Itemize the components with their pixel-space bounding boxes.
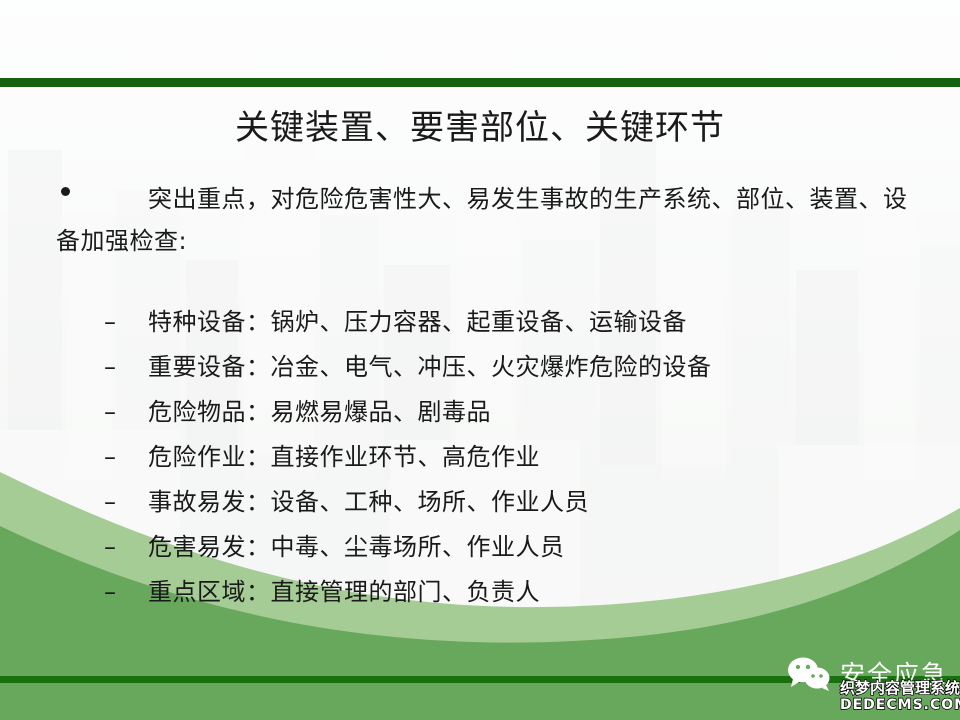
top-divider-bar [0,78,960,87]
dash-marker-icon: – [104,570,148,615]
site-watermark: 织梦内容管理系统 DEDECMS.COM [840,681,960,712]
list-item-label: 重点区域：直接管理的部门、负责人 [104,570,924,615]
list-item-label: 事故易发：设备、工种、场所、作业人员 [104,480,924,525]
list-item-label: 危险物品：易燃易爆品、剧毒品 [104,390,924,435]
list-item: – 重点区域：直接管理的部门、负责人 [104,570,924,615]
page-title: 关键装置、要害部位、关键环节 [0,100,960,149]
dash-marker-icon: – [104,525,148,570]
list-item: – 重要设备：冶金、电气、冲压、火灾爆炸危险的设备 [104,345,924,390]
list-item-label: 重要设备：冶金、电气、冲压、火灾爆炸危险的设备 [104,345,924,390]
list-item: – 危险物品：易燃易爆品、剧毒品 [104,390,924,435]
dash-marker-icon: – [104,480,148,525]
dash-marker-icon: – [104,300,148,345]
list-item: – 事故易发：设备、工种、场所、作业人员 [104,480,924,525]
watermark-line-en: DEDECMS.COM [840,698,960,713]
list-item-label: 特种设备：锅炉、压力容器、起重设备、运输设备 [104,300,924,345]
dash-marker-icon: – [104,435,148,480]
list-item: – 特种设备：锅炉、压力容器、起重设备、运输设备 [104,300,924,345]
dash-marker-icon: – [104,345,148,390]
list-item-label: 危险作业：直接作业环节、高危作业 [104,435,924,480]
bullet-dot-icon [61,187,70,196]
slide-content: 关键装置、要害部位、关键环节 突出重点，对危险危害性大、易发生事故的生产系统、部… [0,0,960,720]
dash-marker-icon: – [104,390,148,435]
watermark-line-cn: 织梦内容管理系统 [840,681,960,697]
intro-paragraph-block: 突出重点，对危险危害性大、易发生事故的生产系统、部位、装置、设备加强检查: [56,178,908,262]
list-item: – 危险作业：直接作业环节、高危作业 [104,435,924,480]
list-item-label: 危害易发：中毒、尘毒场所、作业人员 [104,525,924,570]
wechat-icon [786,656,832,692]
slide-canvas: 关键装置、要害部位、关键环节 突出重点，对危险危害性大、易发生事故的生产系统、部… [0,0,960,720]
list-item: – 危害易发：中毒、尘毒场所、作业人员 [104,525,924,570]
intro-paragraph-text: 突出重点，对危险危害性大、易发生事故的生产系统、部位、装置、设备加强检查: [56,178,908,262]
checklist: – 特种设备：锅炉、压力容器、起重设备、运输设备 – 重要设备：冶金、电气、冲压… [104,300,924,615]
